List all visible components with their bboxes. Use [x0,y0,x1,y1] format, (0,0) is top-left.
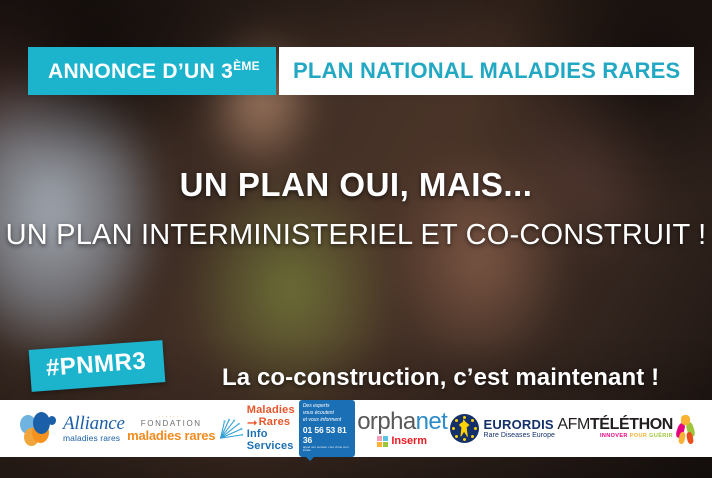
mris-bubble-line-2: vous écoutent [303,410,351,417]
plan-title-text: PLAN NATIONAL MALADIES RARES [293,58,680,84]
plan-title-white-block: PLAN NATIONAL MALADIES RARES [279,47,694,95]
announcement-text: ANNONCE D’UN 3ÈME [48,59,260,84]
announcement-ordinal: ÈME [233,59,260,73]
fondation-name: maladies rares [127,429,215,443]
afm-text: AFMTÉLÉTHON INNOVER POUR GUÉRIR [557,417,673,440]
afm-tagline-b: POUR [630,433,649,439]
inserm-logo: Inserm [377,435,426,447]
afm-tagline-a: INNOVER [600,433,630,439]
orphanet-word-a: orpha [357,408,415,435]
logo-orphanet: orphanet Inserm [357,410,447,447]
eurordis-name: EURORDIS [484,418,555,432]
logo-alliance-maladies-rares: Alliance maladies rares [8,411,125,447]
orphanet-word-b: net [416,408,448,435]
mris-bubble-fineprint: appel non surtaxé, cout d’une com. local… [303,446,351,453]
logo-eurordis: EURORDIS Rare Diseases Europe [450,414,555,443]
mris-speech-bubble: Des experts vous écoutent et vous inform… [299,400,355,456]
mris-line-4: Services [247,441,295,452]
afm-name-b: TÉLÉTHON [590,416,673,433]
announcement-teal-block: ANNONCE D’UN 3ÈME [28,47,276,95]
afm-tagline: INNOVER POUR GUÉRIR [600,434,673,440]
orphanet-wordmark: orphanet [357,410,447,434]
subheadline: UN PLAN INTERMINISTERIEL ET CO-CONSTRUIT… [0,219,712,252]
announcement-band: ANNONCE D’UN 3ÈME PLAN NATIONAL MALADIES… [28,47,694,95]
announcement-prefix: ANNONCE D’UN 3 [48,60,233,83]
eurordis-text: EURORDIS Rare Diseases Europe [484,418,555,439]
alliance-subtitle: maladies rares [63,434,125,443]
tagline: La co-construction, c’est maintenant ! [222,364,659,392]
poster-image: ANNONCE D’UN 3ÈME PLAN NATIONAL MALADIES… [0,0,712,478]
afm-tagline-c: GUÉRIR [649,433,673,439]
alliance-circles-icon [20,411,58,447]
inserm-label: Inserm [391,435,426,447]
mris-phone-number: 01 56 53 81 36 [303,425,351,445]
eurordis-emblem-icon [450,414,479,443]
inserm-squares-icon [377,436,388,447]
logo-fondation-maladies-rares: ······· FONDATION maladies rares [127,415,244,443]
fondation-burst-icon [218,415,244,443]
headline: UN PLAN OUI, MAIS... [0,166,712,204]
mris-bubble-line-1: Des experts [303,403,351,410]
logo-afm-telethon: AFMTÉLÉTHON INNOVER POUR GUÉRIR [557,415,704,443]
fondation-text: ······· FONDATION maladies rares [127,415,215,442]
logo-maladies-rares-info-services: Maladies ➞ Rares Info Services Des exper… [247,400,355,456]
afm-name-a: AFM [557,416,590,433]
eurordis-subtitle: Rare Diseases Europe [484,432,555,439]
afm-figure-icon [676,415,696,443]
mris-bubble-line-3: et vous informent [303,417,351,424]
partner-logo-bar: Alliance maladies rares ······· FONDATIO… [0,400,712,457]
afm-wordmark: AFMTÉLÉTHON [557,417,673,434]
mris-text: Maladies ➞ Rares Info Services [247,405,295,452]
mris-line-2: Rares [259,417,291,428]
mris-line-3: Info [247,429,295,440]
alliance-name: Alliance [63,414,125,433]
alliance-text: Alliance maladies rares [63,414,125,443]
